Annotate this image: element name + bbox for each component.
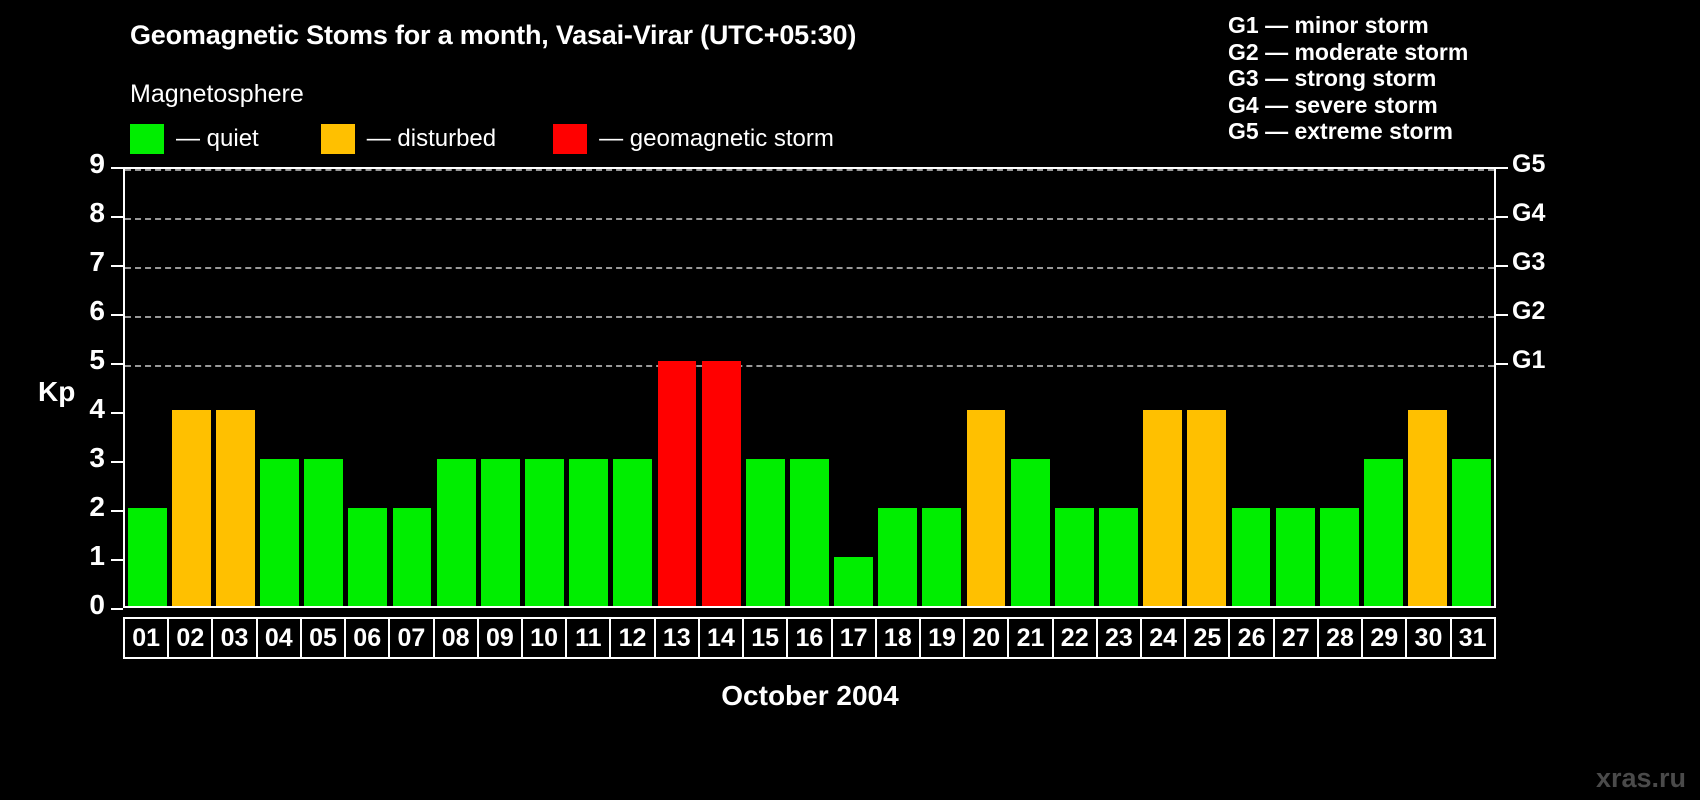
bar[interactable] — [1408, 410, 1447, 606]
x-axis-day-label[interactable]: 10 — [521, 617, 567, 659]
x-axis-day-label[interactable]: 20 — [963, 617, 1009, 659]
bar-slot — [832, 169, 876, 606]
y-axis-tick-mark — [111, 461, 123, 463]
bar[interactable] — [172, 410, 211, 606]
y-axis-tick-label: 0 — [45, 589, 105, 621]
bar-slot — [390, 169, 434, 606]
bar[interactable] — [702, 361, 741, 606]
bar-slot — [1008, 169, 1052, 606]
bar[interactable] — [746, 459, 785, 606]
y-axis-tick-mark — [111, 510, 123, 512]
bar-slot — [1052, 169, 1096, 606]
y-axis-tick-mark — [111, 265, 123, 267]
x-axis-day-label[interactable]: 13 — [654, 617, 700, 659]
bar[interactable] — [437, 459, 476, 606]
legend-item-storm: — geomagnetic storm — [553, 124, 834, 154]
y-axis-tick-label: 6 — [45, 295, 105, 327]
bar-slot — [522, 169, 566, 606]
x-axis-day-label[interactable]: 27 — [1273, 617, 1319, 659]
x-axis-day-label[interactable]: 05 — [300, 617, 346, 659]
bar-slot — [787, 169, 831, 606]
bar[interactable] — [790, 459, 829, 606]
x-axis-day-label[interactable]: 18 — [875, 617, 921, 659]
x-axis-day-label[interactable]: 24 — [1140, 617, 1186, 659]
x-axis-day-labels: 0102030405060708091011121314151617181920… — [123, 617, 1496, 659]
bar[interactable] — [393, 508, 432, 606]
bar[interactable] — [525, 459, 564, 606]
bar-slot — [655, 169, 699, 606]
bar-slot — [1317, 169, 1361, 606]
x-axis-day-label[interactable]: 14 — [698, 617, 744, 659]
bar[interactable] — [1187, 410, 1226, 606]
y-axis-tick-mark — [111, 363, 123, 365]
disturbed-swatch — [321, 124, 355, 154]
x-axis-day-label[interactable]: 28 — [1317, 617, 1363, 659]
x-axis-day-label[interactable]: 02 — [167, 617, 213, 659]
plot-area — [123, 167, 1496, 608]
g-axis-tick-label: G5 — [1512, 150, 1545, 179]
bar[interactable] — [922, 508, 961, 606]
y-axis-tick-mark — [111, 167, 123, 169]
y-axis-tick-label: 8 — [45, 197, 105, 229]
x-axis-day-label[interactable]: 16 — [786, 617, 832, 659]
x-axis-day-label[interactable]: 22 — [1052, 617, 1098, 659]
bar-slot — [1450, 169, 1494, 606]
bar[interactable] — [1099, 508, 1138, 606]
x-axis-day-label[interactable]: 01 — [123, 617, 169, 659]
y-axis-tick-mark — [111, 412, 123, 414]
bar[interactable] — [128, 508, 167, 606]
bar-slot — [1141, 169, 1185, 606]
bar-slot — [920, 169, 964, 606]
x-axis-day-label[interactable]: 04 — [256, 617, 302, 659]
bar-slot — [1185, 169, 1229, 606]
chart-root: Geomagnetic Stoms for a month, Vasai-Vir… — [0, 0, 1700, 800]
g-axis-tick-mark — [1496, 363, 1508, 365]
gscale-legend: G1 — minor storm G2 — moderate storm G3 … — [1228, 12, 1468, 145]
bar-slot — [1273, 169, 1317, 606]
bar[interactable] — [1143, 410, 1182, 606]
x-axis-day-label[interactable]: 15 — [742, 617, 788, 659]
x-axis-caption: October 2004 — [0, 680, 1620, 712]
bar[interactable] — [658, 361, 697, 606]
x-axis-day-label[interactable]: 06 — [344, 617, 390, 659]
gscale-line-g3: G3 — strong storm — [1228, 65, 1468, 92]
bar-slot — [169, 169, 213, 606]
g-axis-tick-mark — [1496, 314, 1508, 316]
x-axis-day-label[interactable]: 29 — [1361, 617, 1407, 659]
x-axis-day-label[interactable]: 19 — [919, 617, 965, 659]
storm-swatch — [553, 124, 587, 154]
g-axis-tick-mark — [1496, 216, 1508, 218]
g-axis-tick-label: G2 — [1512, 297, 1545, 326]
x-axis-day-label[interactable]: 07 — [388, 617, 434, 659]
page-title: Geomagnetic Stoms for a month, Vasai-Vir… — [130, 20, 856, 51]
x-axis-day-label[interactable]: 25 — [1184, 617, 1230, 659]
bar[interactable] — [216, 410, 255, 606]
legend-label-quiet: — quiet — [176, 125, 259, 153]
y-axis-tick-label: 1 — [45, 540, 105, 572]
legend-label-disturbed: — disturbed — [367, 125, 496, 153]
bar[interactable] — [967, 410, 1006, 606]
y-axis-tick-mark — [111, 559, 123, 561]
y-axis-tick-mark — [111, 314, 123, 316]
x-axis-day-label[interactable]: 31 — [1450, 617, 1496, 659]
bar[interactable] — [1364, 459, 1403, 606]
bar[interactable] — [1011, 459, 1050, 606]
bar[interactable] — [260, 459, 299, 606]
bar-slot — [125, 169, 169, 606]
x-axis-day-label[interactable]: 21 — [1007, 617, 1053, 659]
bar[interactable] — [569, 459, 608, 606]
x-axis-day-label[interactable]: 26 — [1228, 617, 1274, 659]
gscale-line-g4: G4 — severe storm — [1228, 92, 1468, 119]
bar-slot — [611, 169, 655, 606]
bar[interactable] — [1232, 508, 1271, 606]
bar-slot — [346, 169, 390, 606]
bar[interactable] — [304, 459, 343, 606]
bar-slot — [699, 169, 743, 606]
y-axis-tick-label: 2 — [45, 491, 105, 523]
bar-slot — [1361, 169, 1405, 606]
y-axis-tick-mark — [111, 216, 123, 218]
g-axis-tick-label: G3 — [1512, 248, 1545, 277]
bar-slot — [964, 169, 1008, 606]
bar[interactable] — [1055, 508, 1094, 606]
x-axis-day-label[interactable]: 09 — [477, 617, 523, 659]
y-axis-tick-mark — [111, 608, 123, 610]
legend-item-quiet: — quiet — [130, 124, 259, 154]
bar-slot — [1406, 169, 1450, 606]
x-axis-day-label[interactable]: 17 — [831, 617, 877, 659]
watermark: xras.ru — [1596, 763, 1686, 794]
gscale-line-g1: G1 — minor storm — [1228, 12, 1468, 39]
bar-slot — [302, 169, 346, 606]
bar-slot — [876, 169, 920, 606]
bar[interactable] — [834, 557, 873, 606]
y-axis-tick-label: 4 — [45, 393, 105, 425]
bar-slot — [1096, 169, 1140, 606]
bar-slot — [213, 169, 257, 606]
bar-slot — [743, 169, 787, 606]
x-axis-day-label[interactable]: 23 — [1096, 617, 1142, 659]
bar[interactable] — [1320, 508, 1359, 606]
y-axis-tick-label: 5 — [45, 344, 105, 376]
magnetosphere-heading: Magnetosphere — [130, 80, 304, 109]
y-axis-tick-label: 3 — [45, 442, 105, 474]
bar-slot — [257, 169, 301, 606]
x-axis-day-label[interactable]: 03 — [211, 617, 257, 659]
bar[interactable] — [1452, 459, 1491, 606]
x-axis-day-label[interactable]: 11 — [565, 617, 611, 659]
x-axis-day-label[interactable]: 08 — [433, 617, 479, 659]
g-axis-tick-label: G4 — [1512, 199, 1545, 228]
bar[interactable] — [481, 459, 520, 606]
bar-slot — [1229, 169, 1273, 606]
bar[interactable] — [613, 459, 652, 606]
bar-slot — [567, 169, 611, 606]
gscale-line-g5: G5 — extreme storm — [1228, 118, 1468, 145]
legend-item-disturbed: — disturbed — [321, 124, 496, 154]
bar[interactable] — [348, 508, 387, 606]
bar-slot — [478, 169, 522, 606]
g-axis-tick-label: G1 — [1512, 346, 1545, 375]
gscale-line-g2: G2 — moderate storm — [1228, 39, 1468, 66]
g-axis-tick-mark — [1496, 167, 1508, 169]
x-axis-day-label[interactable]: 12 — [609, 617, 655, 659]
g-axis-tick-mark — [1496, 265, 1508, 267]
x-axis-day-label[interactable]: 30 — [1405, 617, 1451, 659]
y-axis-tick-label: 7 — [45, 246, 105, 278]
bar[interactable] — [878, 508, 917, 606]
bar-slot — [434, 169, 478, 606]
legend-label-storm: — geomagnetic storm — [599, 125, 834, 153]
legend: — quiet — disturbed — geomagnetic storm — [130, 124, 834, 154]
y-axis-tick-label: 9 — [45, 148, 105, 180]
bar[interactable] — [1276, 508, 1315, 606]
quiet-swatch — [130, 124, 164, 154]
bar-series — [125, 169, 1494, 606]
